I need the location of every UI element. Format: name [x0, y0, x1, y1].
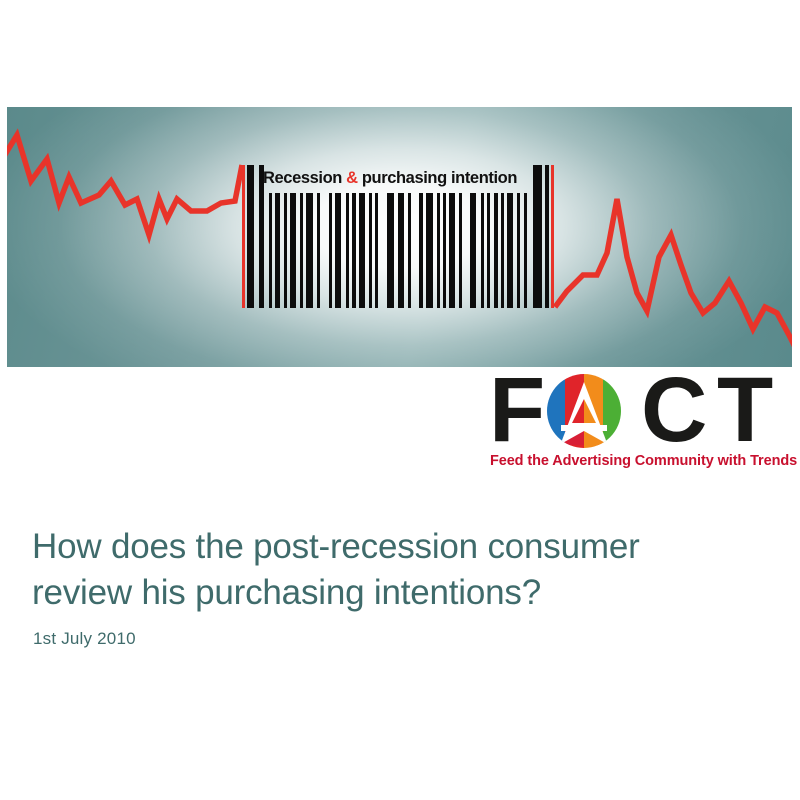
- title-slide: Recession & purchasing intention F: [0, 0, 800, 800]
- presentation-date: 1st July 2010: [33, 629, 136, 649]
- barcode-left-red-rail: [242, 165, 245, 308]
- barcode-graphic: Recession & purchasing intention: [242, 165, 557, 308]
- logo-tagline: Feed the Advertising Community with Tren…: [490, 453, 797, 469]
- page-title-line-1: How does the post-recession consumer: [32, 524, 762, 570]
- barcode-right-red-rail: [551, 165, 554, 308]
- fact-logo-wordmark: F: [489, 371, 791, 449]
- logo-letter-t: T: [717, 371, 771, 449]
- barcode-caption-part-1: Recession: [263, 169, 346, 187]
- page-title: How does the post-recession consumer rev…: [32, 524, 762, 616]
- logo-letter-f: F: [489, 371, 543, 449]
- barcode-caption-ampersand: &: [346, 169, 358, 187]
- barcode-caption: Recession & purchasing intention: [263, 166, 533, 190]
- barcode-caption-part-2: purchasing intention: [358, 169, 517, 187]
- logo-letter-a-colored-circle-icon: [545, 373, 623, 448]
- page-title-line-2: review his purchasing intentions?: [32, 570, 762, 616]
- fact-logo: F: [489, 371, 791, 476]
- logo-letter-c: C: [641, 371, 705, 449]
